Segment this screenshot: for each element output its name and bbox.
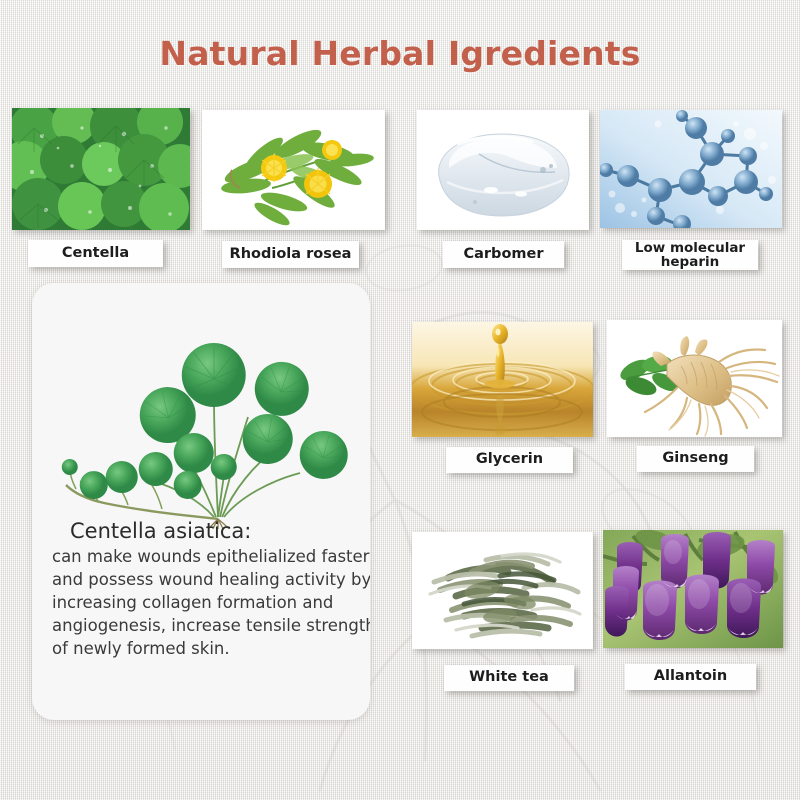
label-text: Allantoin bbox=[654, 669, 727, 684]
centella-body: can make wounds epithelialized faster an… bbox=[52, 545, 362, 660]
ingredient-label-white-tea: White tea bbox=[444, 665, 574, 691]
label-text-line2: heparin bbox=[661, 255, 719, 269]
label-text: Carbomer bbox=[463, 247, 543, 262]
ingredient-label-centella: Centella bbox=[28, 240, 163, 267]
ingredient-label-glycerin: Glycerin bbox=[446, 447, 573, 473]
label-text: Centella bbox=[62, 246, 129, 261]
page-title: Natural Herbal Igredients bbox=[0, 34, 800, 73]
ingredient-label-ginseng: Ginseng bbox=[637, 446, 754, 472]
body-line-5: of newly formed skin. bbox=[52, 637, 362, 660]
label-text: White tea bbox=[469, 670, 549, 685]
ingredient-label-rhodiola: Rhodiola rosea bbox=[222, 241, 359, 268]
body-line-3: increasing collagen formation and bbox=[52, 591, 362, 614]
label-text: Ginseng bbox=[662, 451, 728, 466]
label-text: Glycerin bbox=[476, 452, 543, 467]
ingredient-label-carbomer: Carbomer bbox=[443, 241, 564, 268]
centella-heading: Centella asiatica: bbox=[70, 519, 362, 543]
label-text-line1: Low molecular bbox=[635, 241, 745, 255]
ingredient-image-centella[interactable] bbox=[12, 108, 190, 230]
poster-root: Natural Herbal Igredients bbox=[0, 0, 800, 800]
label-text: Rhodiola rosea bbox=[230, 247, 352, 262]
ingredient-label-heparin: Low molecular heparin bbox=[622, 240, 758, 270]
body-line-1: can make wounds epithelialized faster bbox=[52, 545, 362, 568]
ingredient-image-rhodiola[interactable] bbox=[202, 110, 385, 230]
ingredient-image-heparin[interactable] bbox=[600, 110, 782, 228]
ingredient-image-glycerin[interactable] bbox=[412, 322, 593, 437]
centella-info-card: Centella asiatica: can make wounds epith… bbox=[32, 283, 370, 720]
ingredient-image-allantoin[interactable] bbox=[603, 530, 783, 648]
centella-plant-illustration bbox=[32, 289, 370, 529]
ingredient-image-ginseng[interactable] bbox=[607, 320, 782, 437]
centella-description: Centella asiatica: can make wounds epith… bbox=[44, 519, 362, 660]
ingredient-image-white-tea[interactable] bbox=[412, 532, 593, 649]
body-line-2: and possess wound healing activity by bbox=[52, 568, 362, 591]
ingredient-label-allantoin: Allantoin bbox=[625, 664, 756, 690]
ingredient-image-carbomer[interactable] bbox=[417, 110, 589, 230]
body-line-4: angiogenesis, increase tensile strength bbox=[52, 614, 362, 637]
